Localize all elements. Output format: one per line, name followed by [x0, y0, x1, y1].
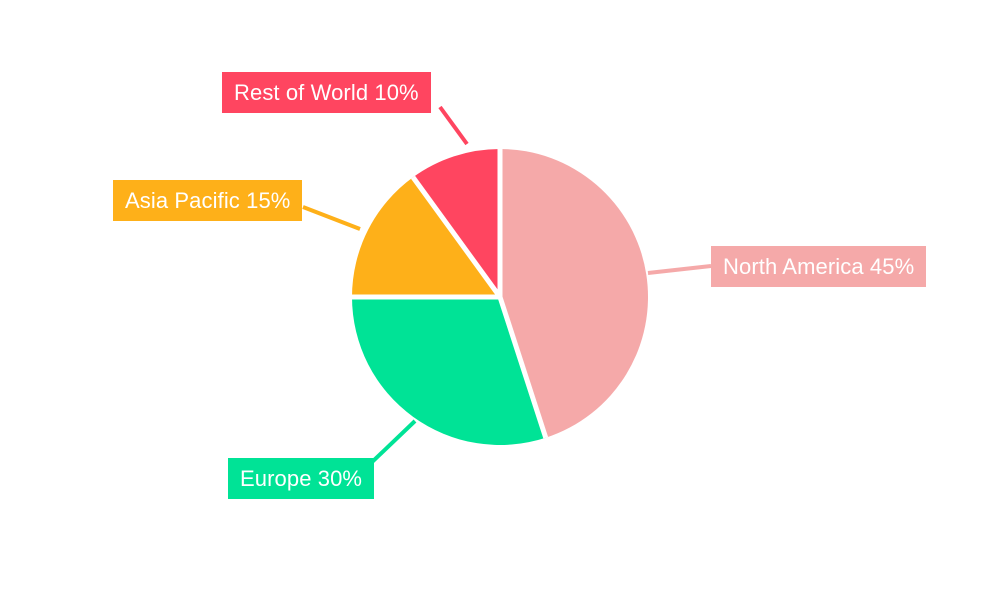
leader-line-north-america	[648, 266, 711, 273]
pie-label-europe-text: Europe 30%	[240, 458, 362, 499]
leader-line-rest-of-world	[440, 107, 467, 144]
pie-label-asia-pacific: Asia Pacific 15%	[113, 180, 302, 221]
pie-label-north-america-text: North America 45%	[723, 246, 914, 287]
leader-line-asia-pacific	[303, 207, 360, 229]
pie-label-asia-pacific-text: Asia Pacific 15%	[125, 180, 290, 221]
pie-label-rest-of-world: Rest of World 10%	[222, 72, 431, 113]
leader-line-europe	[371, 421, 415, 463]
pie-chart-canvas	[0, 0, 1000, 600]
pie-label-europe: Europe 30%	[228, 458, 374, 499]
pie-label-rest-of-world-text: Rest of World 10%	[234, 72, 419, 113]
pie-label-north-america: North America 45%	[711, 246, 926, 287]
pie-chart: North America 45% Europe 30% Asia Pacifi…	[0, 0, 1000, 600]
